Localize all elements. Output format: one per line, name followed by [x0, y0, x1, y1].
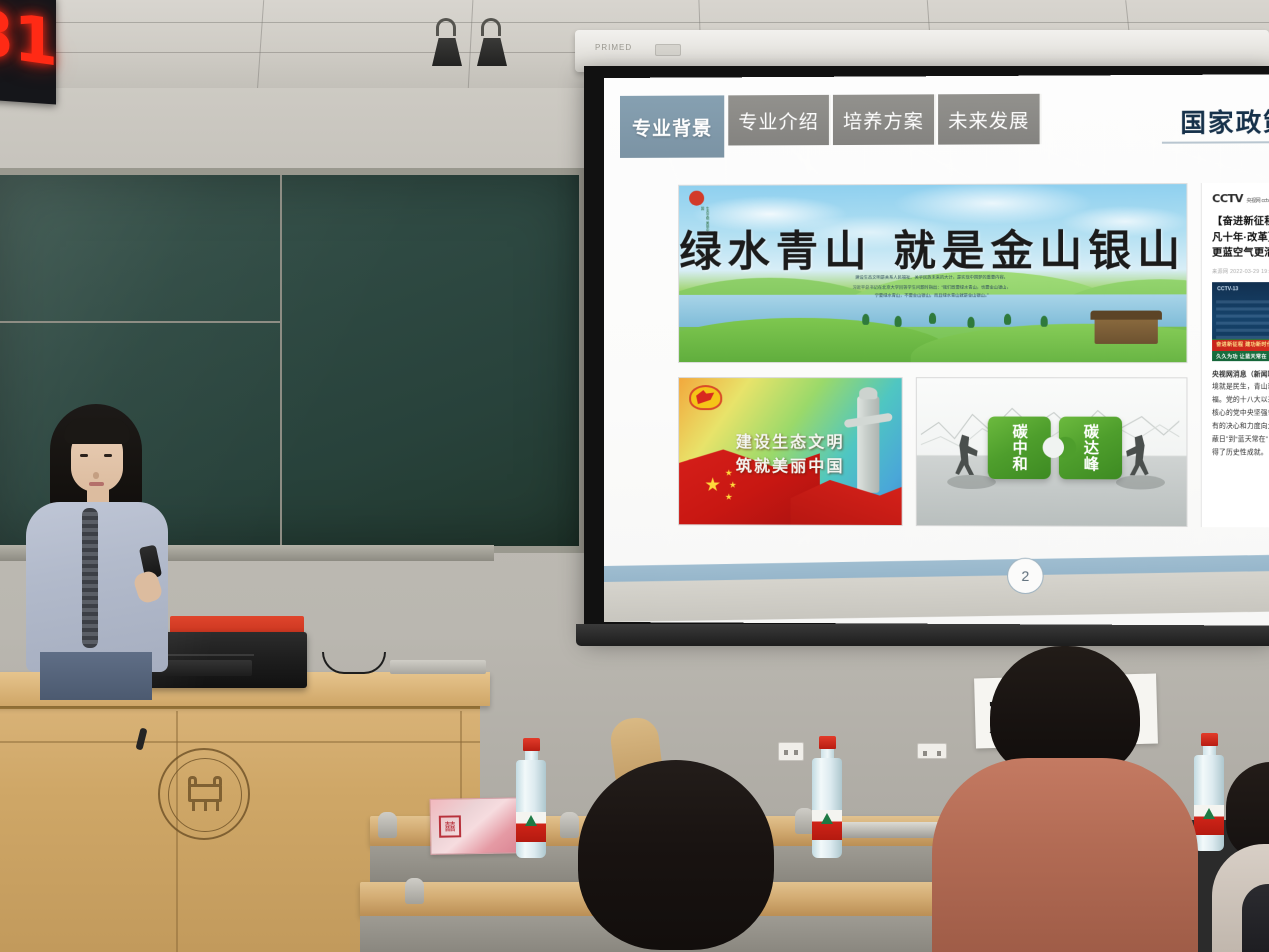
tab-label: 未来发展 [948, 105, 1029, 133]
water-bottle [1194, 733, 1224, 851]
news-body-text: 总书记指出，环境就是民生，青山就是美丽，蓝天也是幸福。党的十八大以来，在以习近平… [1212, 371, 1269, 456]
presentation-slide: 专业背景 专业介绍 培养方案 未来发展 国家政策 生态文明 美丽中国 [604, 74, 1269, 625]
cctv-logo-icon: CCTV 央视网 cctv.com [1212, 192, 1269, 205]
housing-brand-label: PRIMED [595, 43, 632, 52]
ceiling-lamp [477, 36, 507, 66]
banner-tree [862, 314, 869, 325]
slide-title: 国家政策 [1180, 103, 1269, 140]
ding-cauldron-icon [184, 776, 226, 810]
presenter-jeans [40, 652, 152, 700]
water-bottle [812, 736, 842, 858]
card-seal-icon: 囍 [439, 815, 461, 837]
tab-training-plan[interactable]: 培养方案 [833, 94, 936, 145]
banner-subtext-line3: 宁要绿水青山，不要金山银山，而且绿水青山就是金山银山。” [679, 291, 1186, 300]
cctv-news-article-panel: CCTV 央视网 cctv.com 新闻频道 【奋进新征程 建功新时代·非凡十年… [1201, 183, 1269, 528]
news-meta: 来源网 2022-03-29 19:51:42 [1212, 267, 1269, 274]
channel-badge: CCTV-13 [1217, 286, 1238, 292]
presenter-instructor [16, 404, 176, 696]
student-foreground [932, 646, 1198, 952]
projection-screen-bottom-bar [576, 624, 1269, 646]
lower-third-red-text: 奋进新征程 建功新时代 [1216, 340, 1269, 347]
ceiling-lamp [432, 36, 462, 66]
desk-divider-knob [378, 812, 397, 838]
housing-vent [655, 44, 681, 56]
banner-tree [1041, 316, 1048, 327]
puzzle-shadow [947, 475, 996, 489]
tab-professional-background[interactable]: 专业背景 [620, 95, 724, 158]
lecture-hall-photo: 31 PRIMED 专业背景 专业介绍 培养方案 [0, 0, 1269, 952]
news-body-lead: 央视网消息（新闻联播）： [1212, 371, 1269, 378]
student-arm-partial [1242, 884, 1269, 952]
eco-line-2: 筑就美丽中国 [736, 456, 845, 475]
presenter-bangs [64, 418, 130, 444]
green-mountains-banner-image: 生态文明 美丽中国 绿水青山 就是金山银山 建设生态文明是关系人民福祉、关乎民族… [678, 183, 1187, 363]
student-foreground [566, 760, 790, 952]
banner-subtext-line1: 建设生态文明是关系人民福祉、关乎民族未来的大计，是实现中国梦的重要内容。 [679, 273, 1186, 282]
led-clock-digits: 31 [0, 0, 34, 77]
university-emblem [158, 748, 250, 840]
power-outlet[interactable] [778, 742, 804, 761]
banner-tree [1004, 314, 1011, 325]
banner-headline: 绿水青山 就是金山银山 [679, 216, 1186, 278]
puzzle-piece-carbon-neutral: 碳中和 [988, 417, 1051, 480]
party-emblem-icon [689, 385, 722, 410]
cctv-brand: CCTV [1212, 192, 1243, 205]
news-headline: 【奋进新征程 建功新时代·非凡十年·改革】久久为功 让天更蓝空气更清新 [1212, 214, 1269, 261]
tab-label: 专业背景 [632, 113, 712, 140]
banner-tree [967, 317, 974, 328]
lower-third-green-text: 久久为功 让蓝天常在 [1216, 353, 1267, 360]
carbon-goals-puzzle-image: 碳中和 碳达峰 [916, 377, 1188, 527]
banner-tree [895, 316, 902, 327]
banner-lakeside-house [1095, 318, 1158, 344]
water-bottle [516, 738, 546, 858]
puzzle-knob-notch [1043, 437, 1064, 458]
studio-backdrop [1216, 298, 1269, 339]
puzzle-right-label: 碳达峰 [1082, 424, 1099, 472]
podium-device[interactable] [390, 660, 486, 674]
slide-page-number-badge: 2 [1007, 558, 1044, 594]
tab-future-development[interactable]: 未来发展 [938, 94, 1042, 145]
slide-tab-bar: 专业背景 专业介绍 培养方案 未来发展 [604, 93, 1269, 148]
lower-third-red-banner: 奋进新征程 建功新时代 [1212, 339, 1269, 350]
presenter-blouse-placket [82, 508, 98, 648]
news-header: CCTV 央视网 cctv.com 新闻频道 [1212, 191, 1269, 207]
cctv-brand-sub: 央视网 cctv.com [1246, 198, 1269, 204]
title-underline [1162, 141, 1269, 144]
led-clock-panel: 31 [0, 0, 56, 105]
news-body: 央视网消息（新闻联播）：总书记指出，环境就是民生，青山就是美丽，蓝天也是幸福。党… [1212, 369, 1269, 460]
tab-professional-introduction[interactable]: 专业介绍 [728, 95, 831, 146]
eco-civilization-image: 建设生态文明 筑就美丽中国 [678, 377, 903, 526]
pink-certificate-card: 囍 [430, 797, 529, 855]
desk-divider-knob [405, 878, 424, 904]
eco-line-1: 建设生态文明 [736, 432, 845, 451]
tab-label: 专业介绍 [738, 106, 819, 133]
eco-image-text: 建设生态文明 筑就美丽中国 [679, 430, 902, 479]
banner-tree [929, 313, 936, 324]
puzzle-left-label: 碳中和 [1011, 424, 1028, 472]
puzzle-shadow [1116, 475, 1165, 489]
tab-label: 培养方案 [843, 106, 924, 134]
news-video-thumbnail: CCTV-13 久久为功 让蓝天常在 奋进新征程 建功新时代 [1212, 282, 1269, 361]
